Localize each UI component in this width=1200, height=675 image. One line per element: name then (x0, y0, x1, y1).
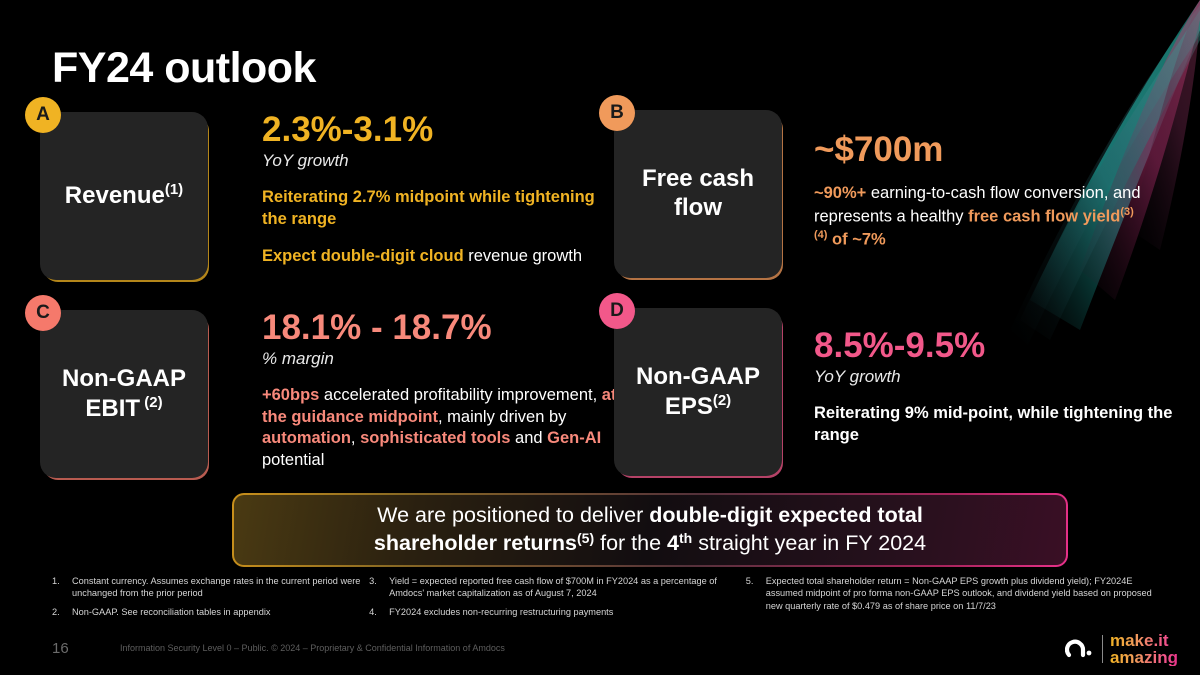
revenue-p2-rest: revenue growth (464, 247, 582, 265)
free-cash-flow-card: B Free cash flow (614, 110, 782, 278)
eps-label-superscript: (2) (713, 392, 731, 409)
footnote-number: 5. (746, 575, 766, 612)
confidentiality-notice: Information Security Level 0 – Public. ©… (120, 643, 505, 653)
revenue-label-text: Revenue (65, 182, 165, 209)
revenue-headline: 2.3%-3.1% (262, 112, 612, 149)
ebit-label-superscript: (2) (140, 394, 163, 411)
badge-b: B (599, 95, 635, 131)
footnote-number: 2. (52, 606, 72, 618)
non-gaap-eps-card: D Non-GAAP EPS(2) (614, 308, 782, 476)
non-gaap-ebit-card: C Non-GAAP EBIT (2) (40, 310, 208, 478)
non-gaap-eps-headline: 8.5%-9.5% (814, 328, 1200, 365)
summary-banner-inner: We are positioned to deliver double-digi… (234, 495, 1066, 565)
badge-d: D (599, 293, 635, 329)
footnote-column-1: 1. Constant currency. Assumes exchange r… (52, 575, 369, 625)
ebit-bold-3: automation (262, 429, 351, 447)
non-gaap-ebit-subcaption: % margin (262, 349, 642, 369)
slide-root: FY24 outlook A Revenue(1) 2.3%-3.1% YoY … (0, 0, 1200, 675)
quadrant-free-cash-flow: B Free cash flow ~$700m ~90%+ earning-to… (614, 110, 782, 278)
non-gaap-ebit-card-label: Non-GAAP EBIT (2) (48, 365, 200, 424)
banner-line-1: We are positioned to deliver double-digi… (377, 502, 923, 530)
revenue-paragraph-1: Reiterating 2.7% midpoint while tighteni… (262, 187, 612, 231)
banner-l2-superscript: (5) (577, 529, 594, 545)
free-cash-flow-headline: ~$700m (814, 132, 1144, 169)
footnote-column-2: 3. Yield = expected reported free cash f… (369, 575, 746, 625)
ebit-bold-1: +60bps (262, 386, 319, 404)
banner-l2-bold: shareholder returns (374, 532, 577, 556)
footnote-text: Constant currency. Assumes exchange rate… (72, 575, 369, 600)
footnote-item: 5. Expected total shareholder return = N… (746, 575, 1162, 612)
logo-tagline-line-2: amazing (1110, 649, 1178, 666)
footnote-item: 1. Constant currency. Assumes exchange r… (52, 575, 369, 600)
logo-divider (1102, 635, 1103, 663)
free-cash-flow-body: ~$700m ~90%+ earning-to-cash flow conver… (814, 132, 1144, 251)
free-cash-flow-paragraph: ~90%+ earning-to-cash flow conversion, a… (814, 183, 1144, 251)
banner-l2-normal-1: for the (594, 532, 667, 556)
ebit-bold-4: sophisticated tools (360, 429, 510, 447)
ebit-rest-2: , mainly driven by (438, 408, 566, 426)
ebit-bold-5: Gen-AI (547, 429, 601, 447)
non-gaap-eps-card-label: Non-GAAP EPS(2) (622, 363, 774, 422)
footnote-text: FY2024 excludes non-recurring restructur… (389, 606, 746, 618)
non-gaap-ebit-body: 18.1% - 18.7% % margin +60bps accelerate… (262, 310, 642, 472)
ebit-rest-3: , (351, 429, 360, 447)
non-gaap-ebit-headline: 18.1% - 18.7% (262, 310, 642, 347)
fcf-bold-3: of ~7% (827, 230, 885, 248)
revenue-p2-bold: Expect double-digit cloud (262, 247, 464, 265)
non-gaap-eps-body: 8.5%-9.5% YoY growth Reiterating 9% mid-… (814, 328, 1200, 446)
footnote-item: 3. Yield = expected reported free cash f… (369, 575, 746, 600)
footnote-column-3: 5. Expected total shareholder return = N… (746, 575, 1162, 625)
banner-l1-normal: We are positioned to deliver (377, 503, 649, 527)
revenue-paragraph-2: Expect double-digit cloud revenue growth (262, 246, 612, 268)
eps-label-text: Non-GAAP EPS (636, 363, 760, 420)
footnote-number: 1. (52, 575, 72, 600)
fcf-bold-1: ~90%+ (814, 184, 866, 202)
footnote-item: 4. FY2024 excludes non-recurring restruc… (369, 606, 746, 618)
banner-l2-ordinal-suffix: th (679, 529, 692, 545)
page-number: 16 (52, 640, 69, 657)
amdocs-logo: make.it amazing (1065, 632, 1178, 666)
ebit-rest-1: accelerated profitability improvement, (319, 386, 601, 404)
banner-l2-ordinal: 4 (667, 532, 679, 556)
non-gaap-eps-subcaption: YoY growth (814, 367, 1200, 387)
footnote-item: 2. Non-GAAP. See reconciliation tables i… (52, 606, 369, 618)
footnote-number: 4. (369, 606, 389, 618)
amdocs-mark-icon (1065, 634, 1095, 664)
revenue-card: A Revenue(1) (40, 112, 208, 280)
non-gaap-ebit-paragraph: +60bps accelerated profitability improve… (262, 385, 642, 472)
free-cash-flow-card-label: Free cash flow (622, 165, 774, 223)
footnote-number: 3. (369, 575, 389, 600)
quadrant-non-gaap-eps: D Non-GAAP EPS(2) 8.5%-9.5% YoY growth R… (614, 308, 782, 476)
revenue-p1-bold: Reiterating 2.7% midpoint while tighteni… (262, 188, 595, 228)
banner-l2-normal-2: straight year in FY 2024 (692, 532, 926, 556)
ebit-rest-5: potential (262, 451, 324, 469)
page-title: FY24 outlook (52, 44, 316, 93)
quadrant-revenue: A Revenue(1) 2.3%-3.1% YoY growth Reiter… (40, 112, 208, 280)
revenue-body: 2.3%-3.1% YoY growth Reiterating 2.7% mi… (262, 112, 612, 268)
footnote-text: Expected total shareholder return = Non-… (766, 575, 1162, 612)
logo-tagline-line-1: make.it (1110, 632, 1178, 649)
banner-l1-bold: double-digit expected total (649, 503, 923, 527)
ebit-label-text: Non-GAAP EBIT (62, 365, 186, 422)
banner-line-2: shareholder returns(5) for the 4th strai… (374, 529, 926, 558)
footnote-text: Yield = expected reported free cash flow… (389, 575, 746, 600)
badge-a: A (25, 97, 61, 133)
revenue-card-label: Revenue(1) (65, 181, 183, 211)
non-gaap-eps-paragraph: Reiterating 9% mid-point, while tighteni… (814, 403, 1200, 447)
quadrant-non-gaap-ebit: C Non-GAAP EBIT (2) 18.1% - 18.7% % marg… (40, 310, 208, 478)
revenue-subcaption: YoY growth (262, 151, 612, 171)
footnote-text: Non-GAAP. See reconciliation tables in a… (72, 606, 369, 618)
revenue-label-superscript: (1) (165, 181, 183, 198)
fcf-bold-2: free cash flow yield (968, 207, 1120, 225)
ebit-rest-4: and (510, 429, 547, 447)
eps-p1-bold: Reiterating 9% mid-point, while tighteni… (814, 404, 1172, 444)
badge-c: C (25, 295, 61, 331)
footnotes-area: 1. Constant currency. Assumes exchange r… (52, 575, 1162, 625)
logo-tagline: make.it amazing (1110, 632, 1178, 666)
summary-banner: We are positioned to deliver double-digi… (232, 493, 1068, 567)
